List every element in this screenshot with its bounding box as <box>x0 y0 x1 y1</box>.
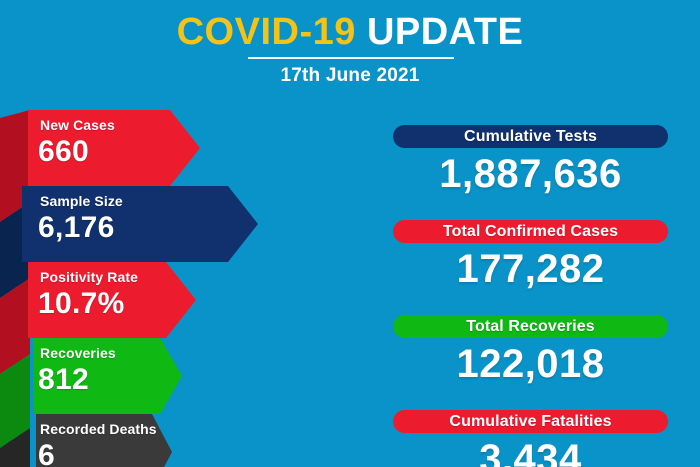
metric-card-new-cases[interactable]: New Cases 660 <box>0 110 200 186</box>
stat-block-cumulative-tests[interactable]: Cumulative Tests 1,887,636 <box>393 125 668 198</box>
stat-label-badge: Total Recoveries <box>393 315 668 338</box>
report-date: 17th June 2021 <box>0 63 700 89</box>
metric-label: Recorded Deaths <box>40 421 157 437</box>
metric-label: New Cases <box>40 117 115 133</box>
stat-block-total-confirmed-cases[interactable]: Total Confirmed Cases 177,282 <box>393 220 668 293</box>
metric-value: 10.7% <box>38 287 125 321</box>
header: COVID-19 UPDATE 17th June 2021 <box>0 0 700 100</box>
stat-label-badge: Cumulative Tests <box>393 125 668 148</box>
metric-label: Recoveries <box>40 345 116 361</box>
metric-value: 812 <box>38 363 89 397</box>
title-divider <box>248 57 454 59</box>
metric-card-recoveries[interactable]: Recoveries 812 <box>0 338 182 414</box>
stat-label-badge: Total Confirmed Cases <box>393 220 668 243</box>
metric-card-recorded-deaths[interactable]: Recorded Deaths 6 <box>0 414 172 467</box>
metric-card-positivity-rate[interactable]: Positivity Rate 10.7% <box>0 262 196 338</box>
title-update-text: UPDATE <box>367 11 523 53</box>
stat-value: 177,282 <box>393 246 668 293</box>
metric-card-sample-size[interactable]: Sample Size 6,176 <box>0 186 258 262</box>
metric-label: Positivity Rate <box>40 269 138 285</box>
metric-value: 6,176 <box>38 211 115 245</box>
title-covid-text: COVID-19 <box>177 11 356 53</box>
stat-block-cumulative-fatalities[interactable]: Cumulative Fatalities 3,434 <box>393 410 668 467</box>
stat-value: 122,018 <box>393 341 668 388</box>
page-title: COVID-19 UPDATE <box>0 10 700 54</box>
stat-value: 3,434 <box>393 436 668 467</box>
covid-update-infographic: COVID-19 UPDATE 17th June 2021 New Cases… <box>0 0 700 467</box>
metric-value: 6 <box>38 439 55 467</box>
stat-block-total-recoveries[interactable]: Total Recoveries 122,018 <box>393 315 668 388</box>
stat-value: 1,887,636 <box>393 151 668 198</box>
metric-label: Sample Size <box>40 193 123 209</box>
left-metrics-column: New Cases 660 Sample Size 6,176 Positivi… <box>0 110 300 467</box>
stat-label-badge: Cumulative Fatalities <box>393 410 668 433</box>
metric-value: 660 <box>38 135 89 169</box>
